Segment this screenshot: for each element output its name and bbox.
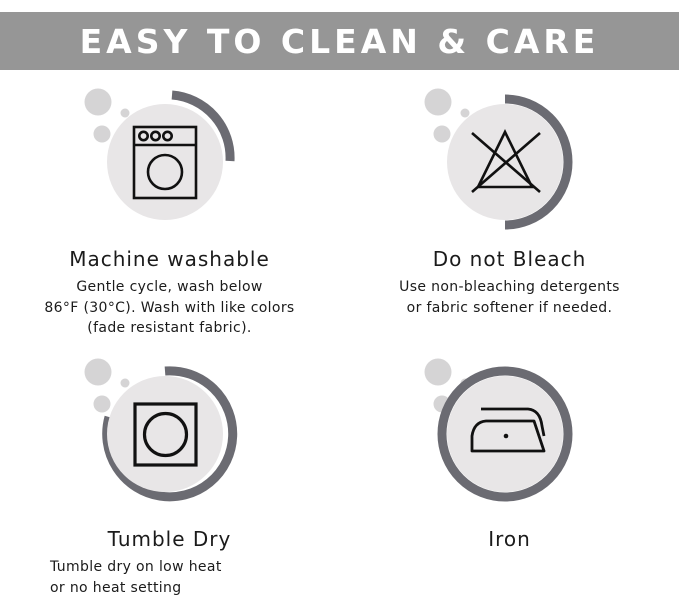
care-item-title: Tumble Dry xyxy=(14,528,325,550)
iron-badge xyxy=(420,354,600,519)
care-instructions-grid: Machine washable Gentle cycle, wash belo… xyxy=(0,70,679,594)
machine-washable-badge xyxy=(80,82,260,247)
care-item-title: Iron xyxy=(354,528,665,550)
machine-washable-caption: Machine washable Gentle cycle, wash belo… xyxy=(0,248,339,338)
page-title: EASY TO CLEAN & CARE xyxy=(80,25,600,58)
care-item-tumble-dry: Tumble Dry Tumble dry on low heat or no … xyxy=(0,342,339,604)
icon-circle-background xyxy=(107,104,223,220)
iron-caption: Iron xyxy=(340,528,679,557)
care-item-body: Use non-bleaching detergents or fabric s… xyxy=(354,277,665,318)
do-not-bleach-badge xyxy=(420,82,600,247)
care-item-iron: Iron xyxy=(340,342,679,604)
care-item-body: Gentle cycle, wash below 86°F (30°C). Wa… xyxy=(14,277,325,338)
icon-circle-background xyxy=(107,376,223,492)
care-item-title: Do not Bleach xyxy=(354,248,665,270)
care-item-body: Tumble dry on low heat or no heat settin… xyxy=(14,557,325,598)
care-item-title: Machine washable xyxy=(14,248,325,270)
tumble-dry-badge xyxy=(80,354,260,519)
do-not-bleach-caption: Do not Bleach Use non-bleaching detergen… xyxy=(340,248,679,318)
care-item-machine-washable: Machine washable Gentle cycle, wash belo… xyxy=(0,70,339,332)
care-item-do-not-bleach: Do not Bleach Use non-bleaching detergen… xyxy=(340,70,679,332)
tumble-dry-caption: Tumble Dry Tumble dry on low heat or no … xyxy=(0,528,339,598)
header-banner: EASY TO CLEAN & CARE xyxy=(0,12,679,70)
